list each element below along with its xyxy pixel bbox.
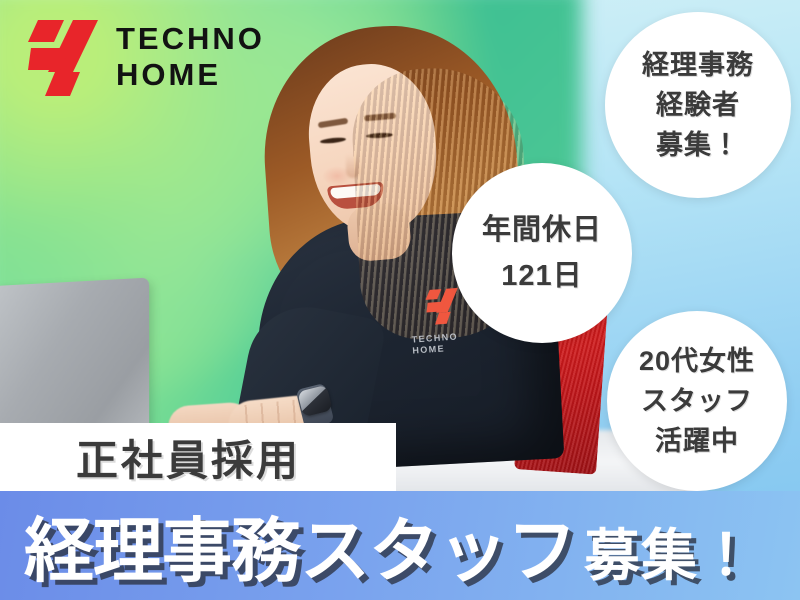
badge-3-line-1: 20代女性: [639, 341, 755, 381]
headline-main: 経理事務スタッフ: [24, 512, 576, 590]
badge-young-women-staff: 20代女性 スタッフ 活躍中: [607, 311, 787, 491]
subheadline-text: 正社員採用: [76, 427, 301, 488]
badge-annual-holidays: 年間休日 121日: [452, 163, 632, 343]
badge-2-line-1: 年間休日: [482, 207, 602, 253]
techno-home-logo-mark-icon: [28, 18, 98, 96]
headline-suffix: 募集！: [584, 524, 755, 587]
subheadline-bar: 正社員採用: [0, 423, 396, 491]
badge-2-line-2: 121日: [501, 253, 582, 299]
headline-bar: 経理事務スタッフ募集！: [0, 491, 800, 600]
badge-3-line-3: 活躍中: [655, 421, 739, 461]
brand-name-line2: HOME: [116, 57, 265, 93]
headline-text: 経理事務スタッフ募集！: [24, 495, 755, 596]
recruitment-banner: TECHNO HOME TECHNO HOME 経理事務 経験者 募集！ 年間休…: [0, 0, 800, 600]
brand-logo: TECHNO HOME: [28, 18, 265, 96]
badge-1-line-1: 経理事務: [642, 45, 754, 85]
badge-3-line-2: スタッフ: [641, 381, 753, 421]
shirt-logo-icon: [425, 285, 462, 327]
badge-1-line-2: 経験者: [656, 85, 740, 125]
brand-name-line1: TECHNO: [116, 21, 265, 57]
badge-1-line-3: 募集！: [656, 125, 740, 165]
badge-accounting-experience: 経理事務 経験者 募集！: [605, 12, 791, 198]
shirt-brand-text: TECHNO HOME: [411, 331, 459, 356]
brand-wordmark: TECHNO HOME: [116, 21, 265, 93]
laptop-screen: [0, 278, 149, 447]
